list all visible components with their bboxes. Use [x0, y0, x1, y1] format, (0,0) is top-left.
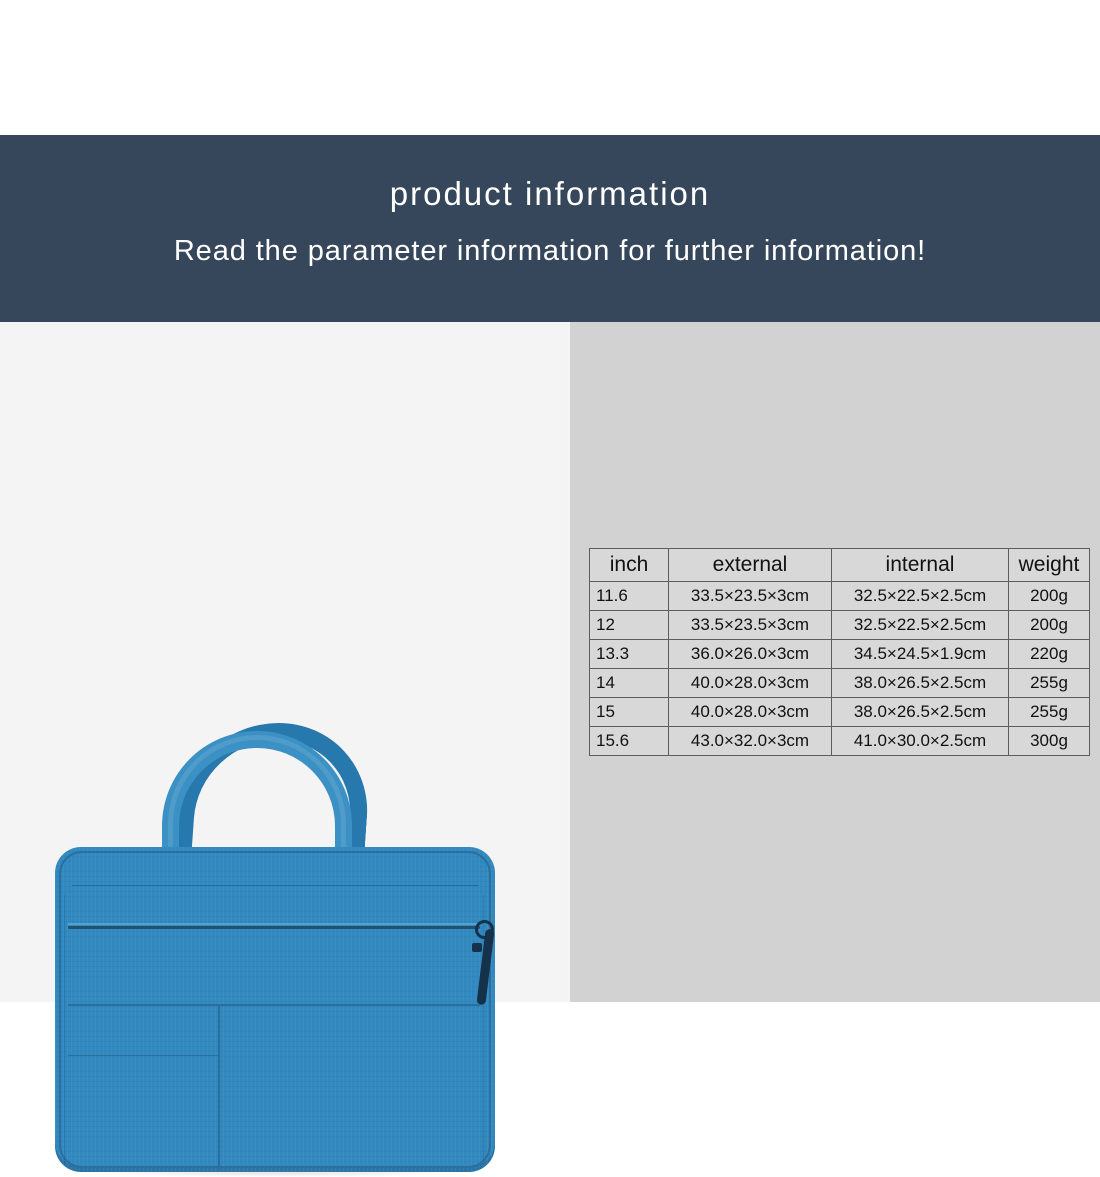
cell-inch: 12 — [590, 611, 669, 640]
cell-internal: 34.5×24.5×1.9cm — [832, 640, 1009, 669]
cell-internal: 32.5×22.5×2.5cm — [832, 611, 1009, 640]
table-header: inch external internal weight — [590, 549, 1090, 582]
cell-inch: 14 — [590, 669, 669, 698]
bag-zipper-track — [68, 926, 480, 929]
bag-zipper-slider — [472, 943, 482, 952]
table-row: 15.6 43.0×32.0×3cm 41.0×30.0×2.5cm 300g — [590, 727, 1090, 756]
table-row: 13.3 36.0×26.0×3cm 34.5×24.5×1.9cm 220g — [590, 640, 1090, 669]
cell-inch: 13.3 — [590, 640, 669, 669]
cell-weight: 300g — [1009, 727, 1090, 756]
bag-front-pocket-small — [68, 1055, 218, 1056]
cell-weight: 255g — [1009, 669, 1090, 698]
table-body: 11.6 33.5×23.5×3cm 32.5×22.5×2.5cm 200g … — [590, 582, 1090, 756]
page-title: product information — [0, 175, 1100, 213]
cell-external: 43.0×32.0×3cm — [669, 727, 832, 756]
table-row: 14 40.0×28.0×3cm 38.0×26.5×2.5cm 255g — [590, 669, 1090, 698]
bag-drop-shadow — [80, 1169, 470, 1177]
table-row: 11.6 33.5×23.5×3cm 32.5×22.5×2.5cm 200g — [590, 582, 1090, 611]
cell-external: 40.0×28.0×3cm — [669, 669, 832, 698]
laptop-sleeve-bag-image — [50, 717, 500, 1177]
bag-top-seam — [72, 885, 478, 886]
column-header-external: external — [669, 549, 832, 582]
cell-weight: 255g — [1009, 698, 1090, 727]
cell-internal: 38.0×26.5×2.5cm — [832, 698, 1009, 727]
table-row: 12 33.5×23.5×3cm 32.5×22.5×2.5cm 200g — [590, 611, 1090, 640]
column-header-weight: weight — [1009, 549, 1090, 582]
cell-internal: 32.5×22.5×2.5cm — [832, 582, 1009, 611]
bag-zipper-highlight — [68, 923, 480, 925]
header-banner: product information Read the parameter i… — [0, 135, 1100, 322]
page-subtitle: Read the parameter information for furth… — [0, 235, 1100, 268]
cell-external: 40.0×28.0×3cm — [669, 698, 832, 727]
cell-internal: 38.0×26.5×2.5cm — [832, 669, 1009, 698]
cell-weight: 200g — [1009, 582, 1090, 611]
cell-internal: 41.0×30.0×2.5cm — [832, 727, 1009, 756]
table-row: 15 40.0×28.0×3cm 38.0×26.5×2.5cm 255g — [590, 698, 1090, 727]
table-header-row: inch external internal weight — [590, 549, 1090, 582]
cell-inch: 15 — [590, 698, 669, 727]
cell-inch: 15.6 — [590, 727, 669, 756]
bag-left-edge-seam — [64, 895, 65, 1165]
cell-weight: 200g — [1009, 611, 1090, 640]
specification-table: inch external internal weight 11.6 33.5×… — [589, 548, 1090, 756]
cell-external: 33.5×23.5×3cm — [669, 582, 832, 611]
product-information-page: product information Read the parameter i… — [0, 0, 1100, 1100]
product-image-panel — [0, 322, 570, 1002]
column-header-inch: inch — [590, 549, 669, 582]
bag-front-pocket-divider — [218, 1004, 220, 1170]
cell-external: 33.5×23.5×3cm — [669, 611, 832, 640]
cell-external: 36.0×26.0×3cm — [669, 640, 832, 669]
bag-front-pocket-large — [68, 1004, 480, 1170]
cell-inch: 11.6 — [590, 582, 669, 611]
column-header-internal: internal — [832, 549, 1009, 582]
cell-weight: 220g — [1009, 640, 1090, 669]
